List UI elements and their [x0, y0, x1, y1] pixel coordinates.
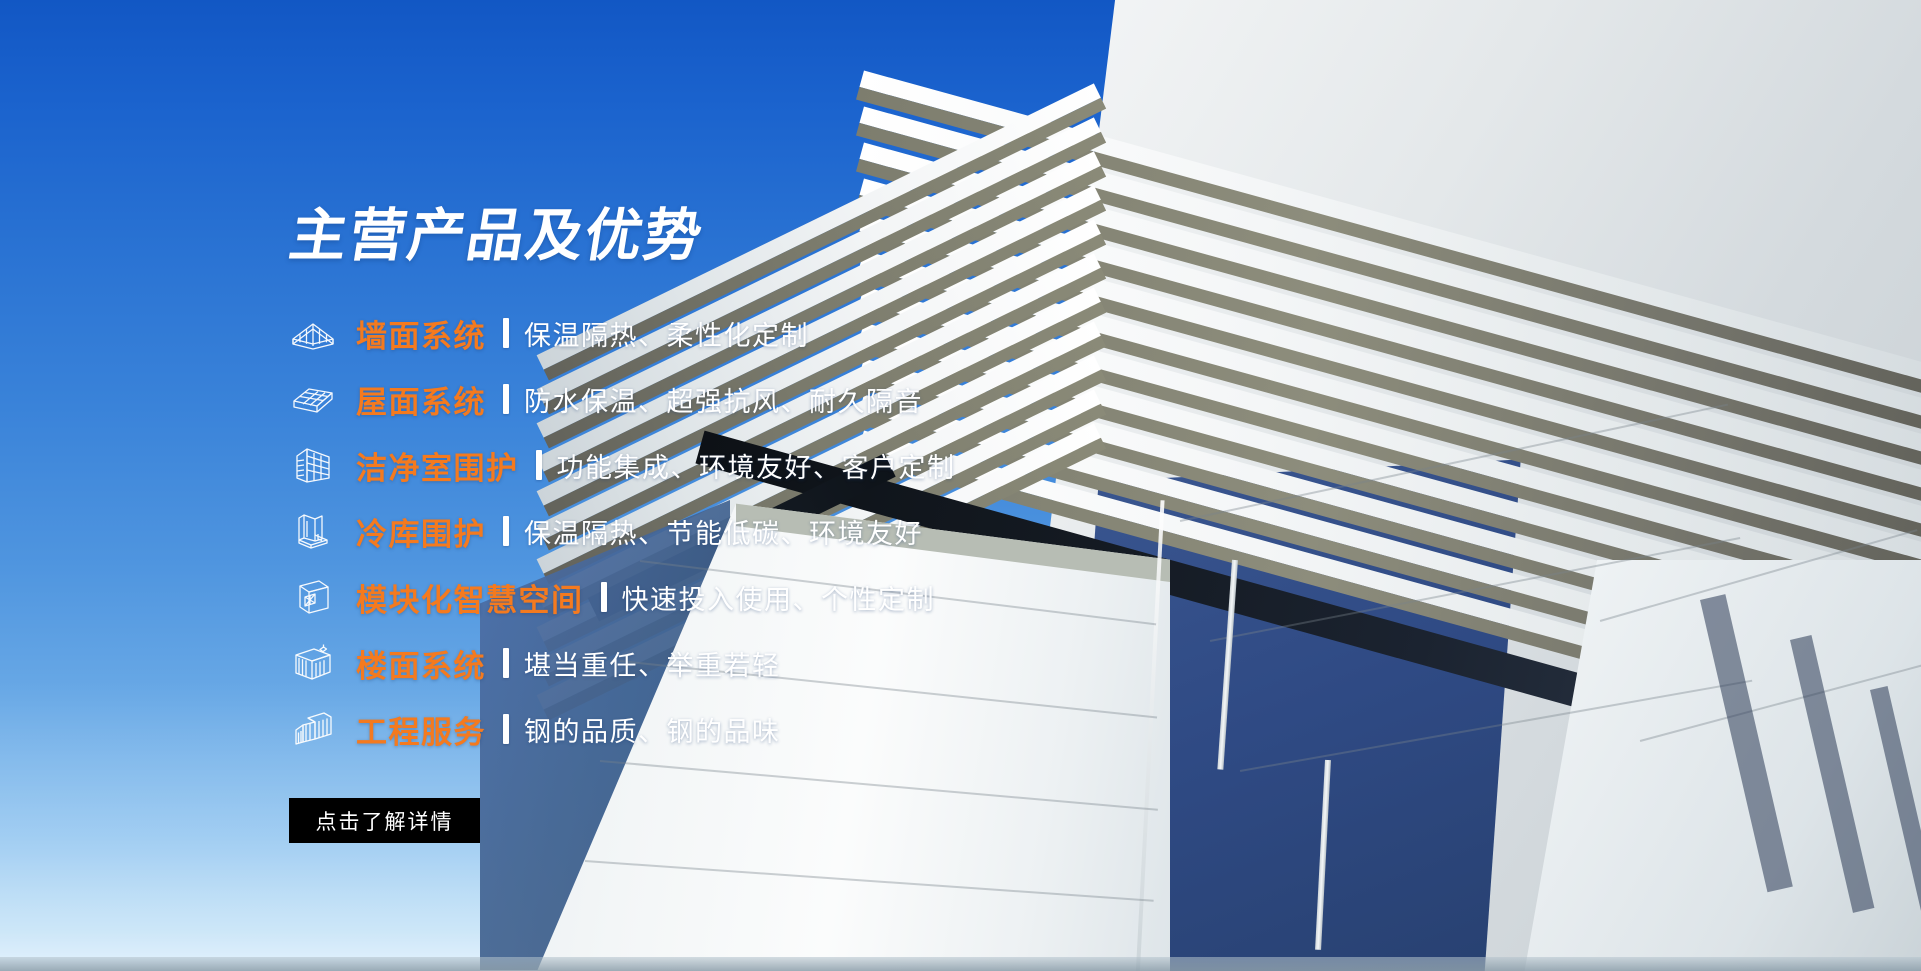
feature-desc: 防水保温、超强抗风、耐久隔音 [524, 380, 923, 419]
feature-separator [601, 582, 607, 612]
feature-row[interactable]: 模块化智慧空间 快速投入使用、个性定制 [286, 564, 1386, 630]
engineering-service-icon [286, 705, 340, 753]
feature-row[interactable]: 工程服务 钢的品质、钢的品味 [286, 696, 1386, 762]
feature-row[interactable]: 冷库围护 保温隔热、节能低碳、环境友好 [286, 498, 1386, 564]
roof-panel-icon [286, 375, 340, 423]
feature-row[interactable]: 楼面系统 堪当重任、举重若轻 [286, 630, 1386, 696]
feature-name: 冷库围护 [356, 509, 486, 554]
feature-row[interactable]: 屋面系统 防水保温、超强抗风、耐久隔音 [286, 366, 1386, 432]
feature-separator [536, 450, 542, 480]
wall-panel-icon [286, 309, 340, 357]
feature-separator [503, 516, 509, 546]
feature-separator [503, 384, 509, 414]
feature-separator [503, 648, 509, 678]
modular-cube-icon [286, 573, 340, 621]
feature-desc: 堪当重任、举重若轻 [524, 644, 781, 683]
page-title: 主营产品及优势 [285, 208, 707, 265]
cleanroom-building-icon [286, 441, 340, 489]
hero-content: 主营产品及优势 墙面系统 保温隔热、柔性化定制 [0, 0, 1921, 971]
feature-separator [503, 318, 509, 348]
feature-desc: 快速投入使用、个性定制 [622, 578, 936, 617]
feature-row[interactable]: 墙面系统 保温隔热、柔性化定制 [286, 300, 1386, 366]
feature-desc: 保温隔热、柔性化定制 [524, 314, 809, 353]
hero-banner: 主营产品及优势 墙面系统 保温隔热、柔性化定制 [0, 0, 1921, 971]
cold-storage-icon [286, 507, 340, 555]
feature-list: 墙面系统 保温隔热、柔性化定制 屋面系统 防水保温、超强抗风、 [286, 300, 1386, 762]
feature-row[interactable]: 洁净室围护 功能集成、环境友好、客户定制 [286, 432, 1386, 498]
feature-separator [503, 714, 509, 744]
feature-name: 洁净室围护 [356, 443, 519, 488]
feature-desc: 功能集成、环境友好、客户定制 [557, 446, 956, 485]
floor-deck-icon [286, 639, 340, 687]
feature-name: 屋面系统 [356, 377, 486, 422]
feature-name: 模块化智慧空间 [356, 575, 584, 620]
feature-name: 墙面系统 [356, 311, 486, 356]
feature-name: 工程服务 [356, 707, 486, 752]
learn-more-button[interactable]: 点击了解详情 [289, 798, 480, 843]
feature-desc: 保温隔热、节能低碳、环境友好 [524, 512, 923, 551]
feature-desc: 钢的品质、钢的品味 [524, 710, 781, 749]
feature-name: 楼面系统 [356, 641, 486, 686]
